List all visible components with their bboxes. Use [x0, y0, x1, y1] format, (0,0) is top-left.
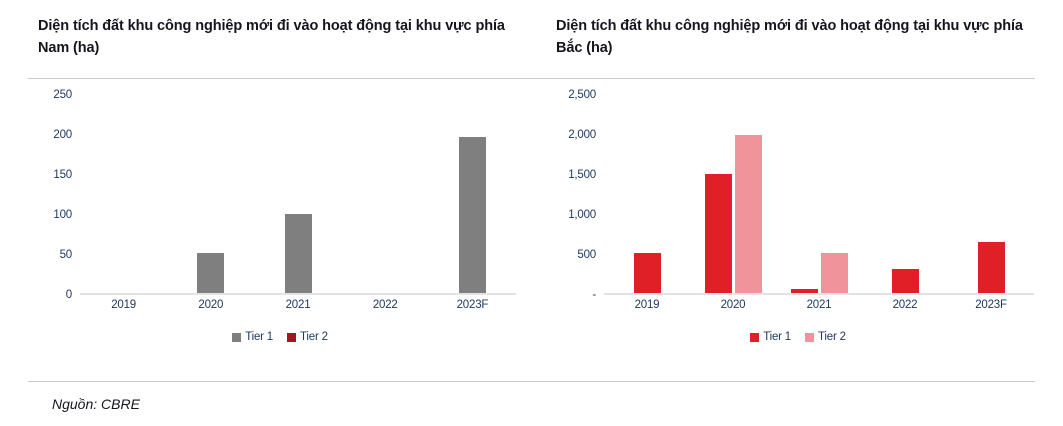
x-axis-labels-south: 20192020202120222023F — [80, 299, 516, 321]
plot-area-north — [604, 95, 1034, 295]
legend-label: Tier 2 — [818, 331, 846, 343]
plot-area-south — [80, 95, 516, 295]
y-tick-south: 200 — [53, 129, 72, 141]
x-tick-2023F: 2023F — [429, 299, 516, 321]
y-axis-north: -5001,0001,5002,0002,500 — [548, 95, 596, 295]
x-axis-line-north — [604, 293, 1034, 295]
bar-group — [342, 95, 429, 293]
bar-north-2022-tier-1[interactable] — [892, 269, 919, 293]
plot-south: 050100150200250 — [30, 95, 530, 295]
plot-north: -5001,0001,5002,0002,500 — [548, 95, 1048, 295]
y-tick-north: 500 — [577, 249, 596, 261]
bar-group — [604, 95, 690, 293]
source-note: Nguồn: CBRE — [52, 396, 140, 412]
legend-swatch-icon — [232, 333, 241, 342]
x-tick-2022: 2022 — [342, 299, 429, 321]
y-tick-north: - — [592, 289, 596, 301]
y-tick-north: 1,000 — [568, 209, 596, 221]
bar-group — [429, 95, 516, 293]
y-axis-south: 050100150200250 — [30, 95, 72, 295]
bar-south-2020-tier-1[interactable] — [197, 253, 224, 293]
x-axis-line-south — [80, 293, 516, 295]
bar-north-2020-tier-1[interactable] — [705, 174, 732, 293]
y-tick-north: 2,500 — [568, 89, 596, 101]
bar-north-2020-tier-2[interactable] — [735, 135, 762, 293]
bar-groups-south — [80, 95, 516, 293]
bar-group — [167, 95, 254, 293]
divider-bottom — [28, 381, 1035, 382]
figure-panel: Diện tích đất khu công nghiệp mới đi vào… — [0, 0, 1063, 426]
y-tick-north: 1,500 — [568, 169, 596, 181]
x-tick-2019: 2019 — [80, 299, 167, 321]
bar-group — [948, 95, 1034, 293]
x-tick-2020: 2020 — [690, 299, 776, 321]
bar-group — [690, 95, 776, 293]
y-tick-south: 250 — [53, 89, 72, 101]
bar-south-2021-tier-1[interactable] — [285, 214, 312, 293]
bar-north-2023F-tier-1[interactable] — [978, 242, 1005, 293]
chart-title-south: Diện tích đất khu công nghiệp mới đi vào… — [38, 15, 508, 60]
legend-item-tier-1[interactable]: Tier 1 — [750, 331, 791, 343]
legend-label: Tier 2 — [300, 331, 328, 343]
x-tick-2023F: 2023F — [948, 299, 1034, 321]
chart-south: 050100150200250 20192020202120222023F Ti… — [30, 95, 530, 360]
y-tick-south: 100 — [53, 209, 72, 221]
x-tick-2022: 2022 — [862, 299, 948, 321]
bar-group — [862, 95, 948, 293]
y-tick-south: 0 — [66, 289, 72, 301]
legend-item-tier-2[interactable]: Tier 2 — [805, 331, 846, 343]
x-tick-2021: 2021 — [254, 299, 341, 321]
bar-south-2023F-tier-1[interactable] — [459, 137, 486, 293]
bar-group — [254, 95, 341, 293]
legend-item-tier-2[interactable]: Tier 2 — [287, 331, 328, 343]
legend-north: Tier 1Tier 2 — [548, 331, 1048, 343]
chart-title-north: Diện tích đất khu công nghiệp mới đi vào… — [556, 15, 1026, 60]
chart-north: -5001,0001,5002,0002,500 201920202021202… — [548, 95, 1048, 360]
legend-label: Tier 1 — [245, 331, 273, 343]
y-tick-south: 150 — [53, 169, 72, 181]
x-tick-2020: 2020 — [167, 299, 254, 321]
legend-south: Tier 1Tier 2 — [30, 331, 530, 343]
bar-group — [80, 95, 167, 293]
x-axis-labels-north: 20192020202120222023F — [604, 299, 1034, 321]
x-tick-2019: 2019 — [604, 299, 690, 321]
legend-label: Tier 1 — [763, 331, 791, 343]
y-tick-south: 50 — [60, 249, 72, 261]
legend-swatch-icon — [805, 333, 814, 342]
x-tick-2021: 2021 — [776, 299, 862, 321]
divider-top — [28, 78, 1035, 79]
bar-north-2019-tier-1[interactable] — [634, 253, 661, 293]
legend-item-tier-1[interactable]: Tier 1 — [232, 331, 273, 343]
bar-north-2021-tier-2[interactable] — [821, 253, 848, 293]
y-tick-north: 2,000 — [568, 129, 596, 141]
bar-groups-north — [604, 95, 1034, 293]
legend-swatch-icon — [287, 333, 296, 342]
legend-swatch-icon — [750, 333, 759, 342]
bar-group — [776, 95, 862, 293]
